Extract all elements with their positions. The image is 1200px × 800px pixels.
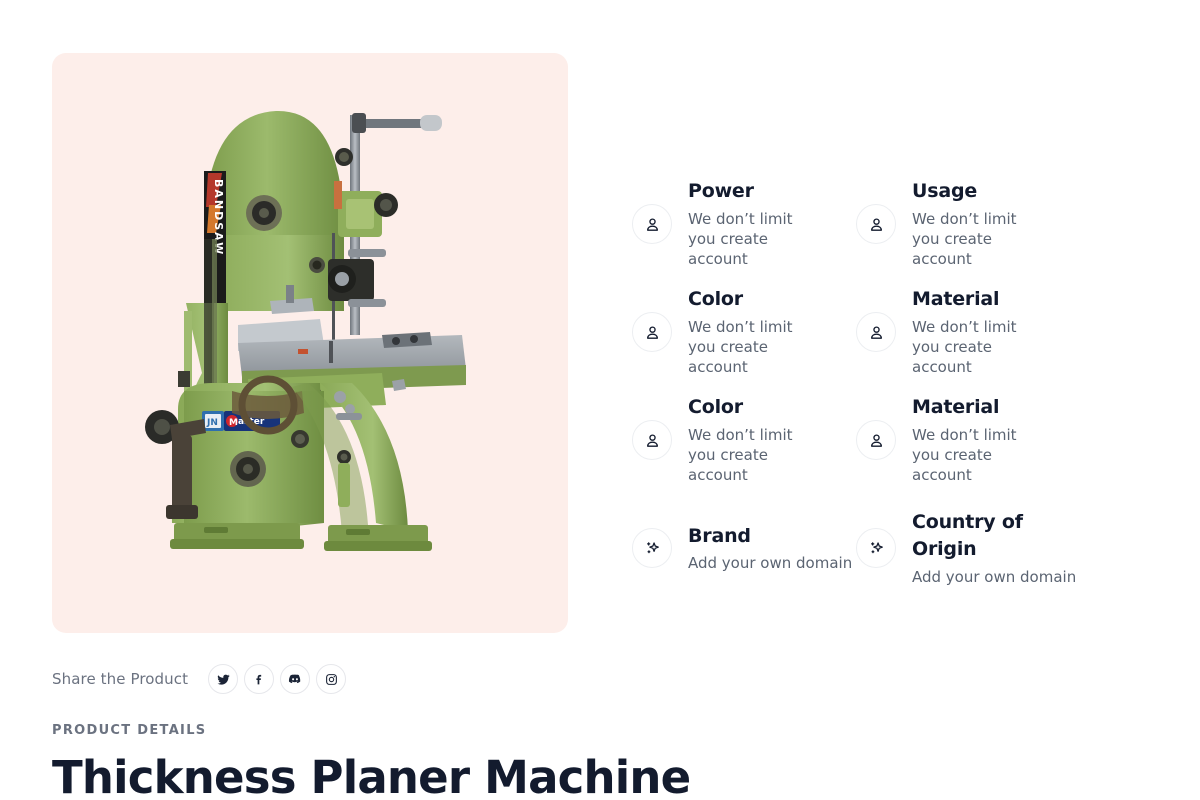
feature-title: Country of Origin [912, 509, 1032, 564]
sparkles-icon [856, 528, 896, 568]
user-icon [632, 312, 672, 352]
feature-description: We don’t limit you create account [912, 209, 1047, 270]
facebook-icon [253, 673, 266, 686]
feature-item-usage[interactable]: Usage We don’t limit you create account [856, 170, 1080, 278]
user-icon [856, 204, 896, 244]
feature-description: We don’t limit you create account [912, 317, 1047, 378]
feature-item-color-2[interactable]: Color We don’t limit you create account [632, 386, 856, 494]
feature-grid: Power We don’t limit you create account … [632, 170, 1102, 602]
user-icon [856, 312, 896, 352]
feature-description: We don’t limit you create account [688, 425, 823, 486]
svg-text:JN: JN [206, 418, 218, 428]
user-icon [632, 420, 672, 460]
feature-text: Power We don’t limit you create account [688, 178, 823, 269]
band-saw-machine-photo: BANDSAW [52, 53, 568, 633]
feature-text: Country of Origin Add your own domain [912, 509, 1076, 587]
feature-title: Color [688, 286, 823, 314]
feature-description: We don’t limit you create account [912, 425, 1047, 486]
svg-text:M: M [229, 418, 238, 428]
feature-text: Material We don’t limit you create accou… [912, 394, 1047, 485]
social-link-twitter[interactable] [208, 664, 238, 694]
feature-description: We don’t limit you create account [688, 209, 823, 270]
feature-title: Usage [912, 178, 1047, 206]
feature-text: Color We don’t limit you create account [688, 394, 823, 485]
discord-icon [288, 672, 302, 686]
social-icon-list [208, 664, 346, 694]
feature-item-material-1[interactable]: Material We don’t limit you create accou… [856, 278, 1080, 386]
product-media-column: BANDSAW [52, 53, 568, 800]
feature-description: We don’t limit you create account [688, 317, 823, 378]
instagram-icon [325, 673, 338, 686]
product-specs-panel: Power We don’t limit you create account … [632, 170, 1102, 602]
feature-title: Material [912, 286, 1047, 314]
feature-description: Add your own domain [912, 567, 1076, 587]
feature-text: Usage We don’t limit you create account [912, 178, 1047, 269]
share-label: Share the Product [52, 670, 188, 688]
sparkles-icon [632, 528, 672, 568]
social-link-facebook[interactable] [244, 664, 274, 694]
feature-title: Material [912, 394, 1047, 422]
user-icon [856, 420, 896, 460]
feature-description: Add your own domain [688, 553, 852, 573]
feature-title: Color [688, 394, 823, 422]
feature-item-country-of-origin[interactable]: Country of Origin Add your own domain [856, 494, 1080, 602]
product-image-frame[interactable]: BANDSAW [52, 53, 568, 633]
feature-text: Color We don’t limit you create account [688, 286, 823, 377]
twitter-icon [217, 673, 230, 686]
social-link-discord[interactable] [280, 664, 310, 694]
feature-item-brand[interactable]: Brand Add your own domain [632, 494, 856, 602]
feature-text: Material We don’t limit you create accou… [912, 286, 1047, 377]
page-title: Thickness Planer Machine [52, 754, 568, 800]
feature-item-color-1[interactable]: Color We don’t limit you create account [632, 278, 856, 386]
feature-item-power[interactable]: Power We don’t limit you create account [632, 170, 856, 278]
feature-item-material-2[interactable]: Material We don’t limit you create accou… [856, 386, 1080, 494]
product-details-eyebrow: PRODUCT DETAILS [52, 723, 568, 738]
user-icon [632, 204, 672, 244]
product-details-page: BANDSAW [0, 0, 1200, 800]
feature-title: Brand [688, 523, 852, 551]
share-row: Share the Product [52, 661, 568, 697]
social-link-instagram[interactable] [316, 664, 346, 694]
feature-title: Power [688, 178, 823, 206]
feature-text: Brand Add your own domain [688, 523, 852, 574]
